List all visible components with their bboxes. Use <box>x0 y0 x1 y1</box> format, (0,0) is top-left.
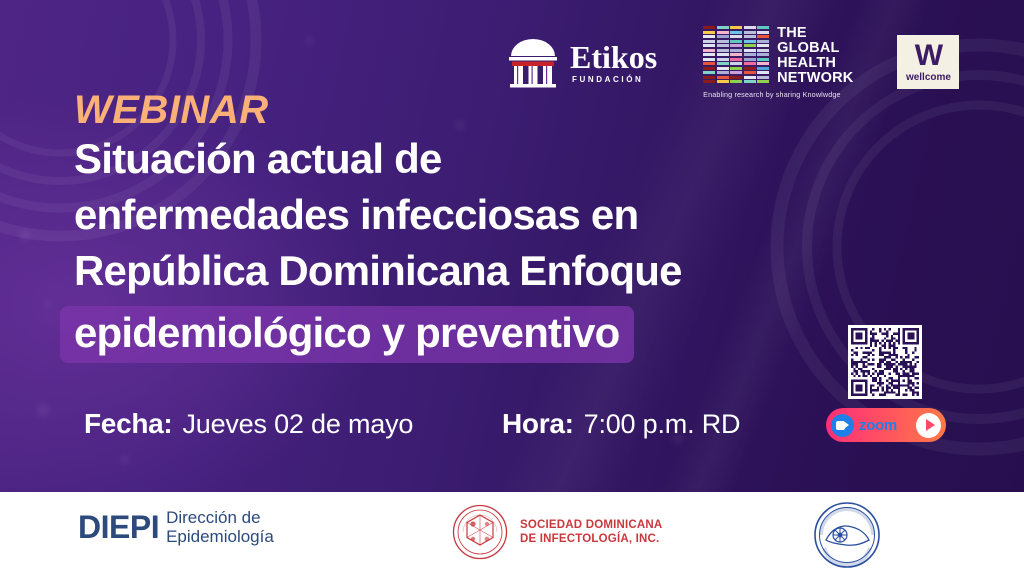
date-value: Jueves 02 de mayo <box>182 409 413 440</box>
sociedad-infectologia-logo: SOCIEDAD DOMINICANA DE INFECTOLOGÍA, INC… <box>452 504 662 560</box>
decorative-dot <box>305 37 313 45</box>
etikos-tagline: FUNDACIÓN <box>572 76 657 84</box>
decorative-dot <box>20 230 31 241</box>
sdi-line-1: SOCIEDAD DOMINICANA <box>520 518 662 532</box>
decorative-dot <box>44 300 51 307</box>
sdi-line-2: DE INFECTOLOGÍA, INC. <box>520 532 662 546</box>
qr-code-image <box>851 328 919 396</box>
infectologia-seal-icon <box>452 504 508 560</box>
wellcome-wordmark: wellcome <box>906 72 951 83</box>
diepi-line-1: Dirección de <box>166 508 274 527</box>
ghn-line-4: NETWORK <box>777 71 853 86</box>
sodomesa-seal-icon <box>812 500 882 570</box>
partner-logo-row: Etikos FUNDACIÓN THE GLOBAL HEALTH NETWO… <box>505 26 959 99</box>
qr-code[interactable] <box>848 325 922 399</box>
date-group: Fecha: Jueves 02 de mayo <box>84 408 413 440</box>
ghn-color-grid-icon <box>703 26 769 83</box>
headline-block: Situación actual de enfermedades infecci… <box>74 138 844 363</box>
headline-line-4-highlighted: epidemiológico y preventivo <box>60 306 634 363</box>
play-icon[interactable] <box>916 413 941 438</box>
wellcome-monogram: W <box>915 42 942 69</box>
webinar-poster: Etikos FUNDACIÓN THE GLOBAL HEALTH NETWO… <box>0 0 1024 576</box>
diepi-wordmark: DIEPI <box>78 509 159 546</box>
ghn-line-2: GLOBAL <box>777 41 853 56</box>
global-health-network-logo: THE GLOBAL HEALTH NETWORK Enabling resea… <box>703 26 853 99</box>
zoom-platform-badge[interactable]: zoom <box>826 408 946 442</box>
ghn-line-3: HEALTH <box>777 56 853 71</box>
ghn-tagline: Enabling research by sharing Knowlwdge <box>703 90 853 99</box>
etikos-logo: Etikos FUNDACIÓN <box>505 36 657 88</box>
etikos-building-icon <box>505 36 561 88</box>
diepi-line-2: Epidemiología <box>166 527 274 546</box>
headline-line-3: República Dominicana Enfoque <box>74 250 844 292</box>
date-label: Fecha: <box>84 408 172 440</box>
decorative-dot <box>120 455 129 464</box>
decorative-dot <box>455 120 465 130</box>
etikos-wordmark: Etikos <box>570 41 657 73</box>
video-camera-icon <box>831 414 854 437</box>
time-group: Hora: 7:00 p.m. RD <box>502 408 740 440</box>
decorative-dot <box>36 403 50 417</box>
diepi-logo: DIEPI Dirección de Epidemiología <box>78 508 274 546</box>
zoom-wordmark: zoom <box>859 417 911 434</box>
time-value: 7:00 p.m. RD <box>584 409 741 440</box>
ghn-line-1: THE <box>777 26 853 41</box>
wellcome-logo: W wellcome <box>897 35 959 89</box>
webinar-kicker: WEBINAR <box>74 88 269 133</box>
footer-bar: DIEPI Dirección de Epidemiología SOCIEDA… <box>0 492 1024 576</box>
headline-line-1: Situación actual de <box>74 138 844 180</box>
time-label: Hora: <box>502 408 574 440</box>
headline-line-2: enfermedades infecciosas en <box>74 194 844 236</box>
